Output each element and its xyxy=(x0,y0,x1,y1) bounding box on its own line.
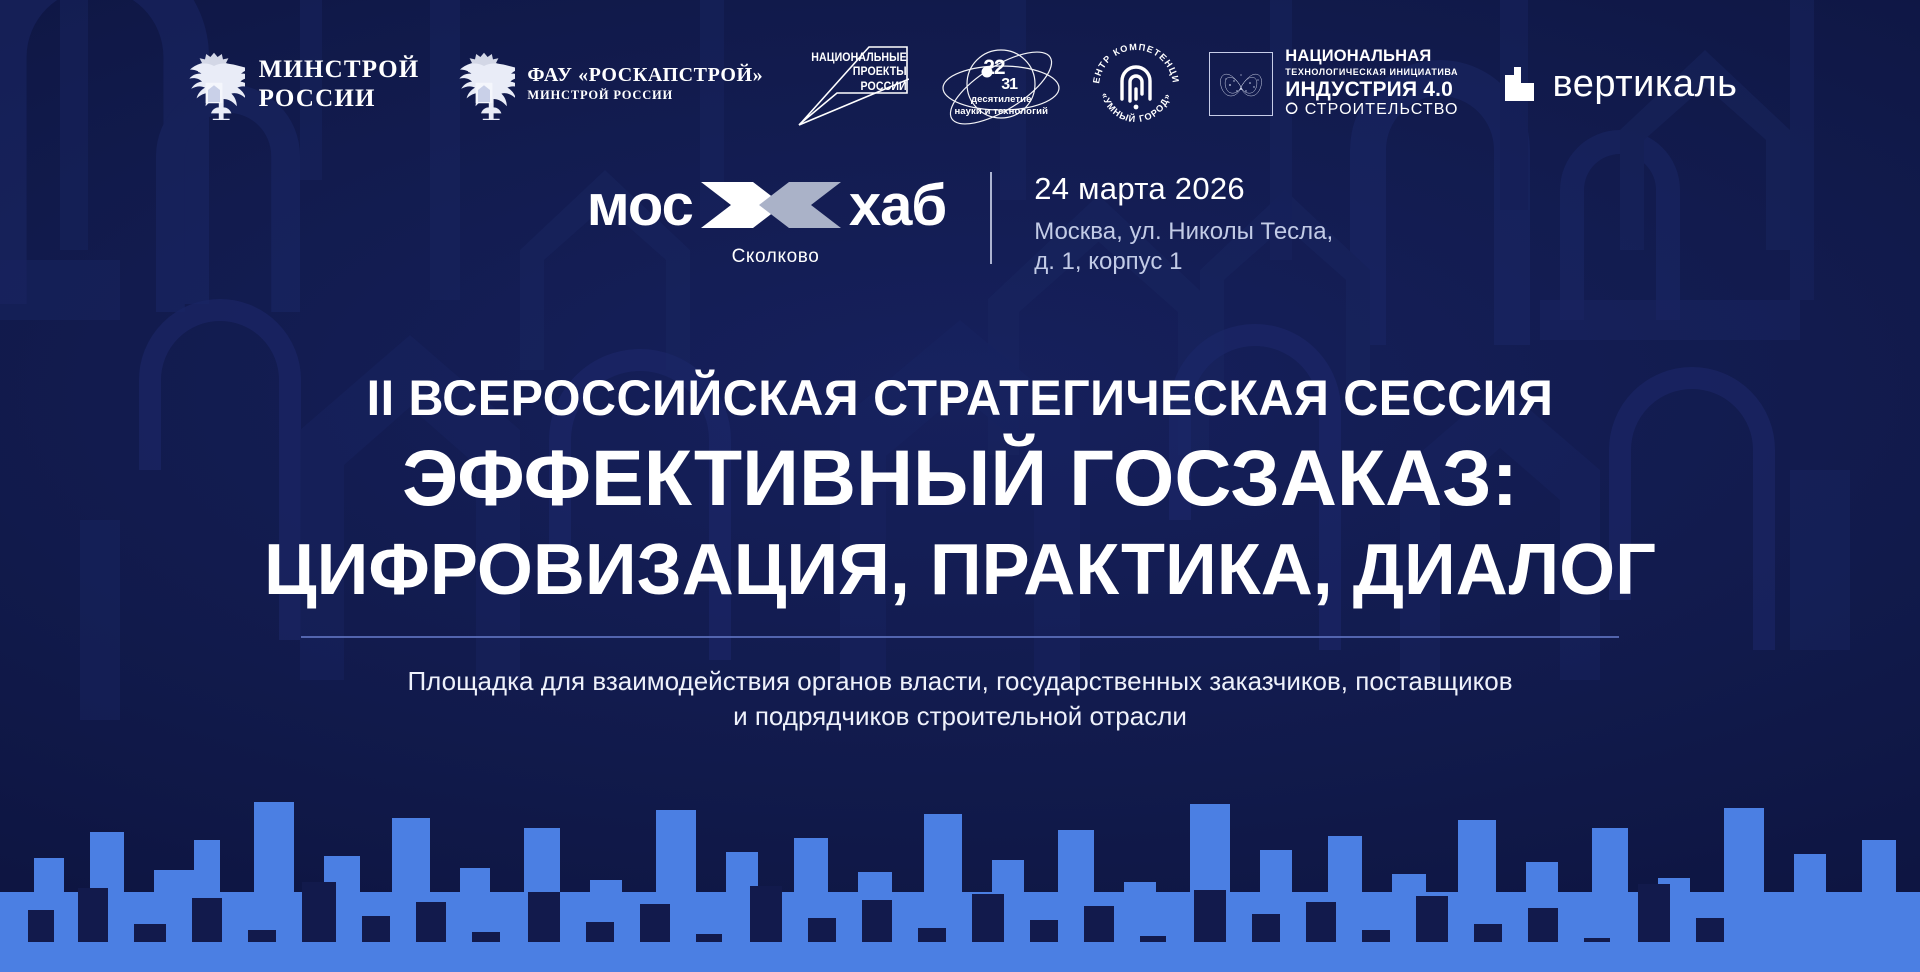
logo-minstroy-rossii: МИНСТРОЙ РОССИИ xyxy=(183,48,420,120)
moshub-bowtie-icon xyxy=(697,168,845,242)
decade-caption: десятилетие науки и технологий xyxy=(935,94,1067,118)
partner-logo-bar: МИНСТРОЙ РОССИИ ФАУ «РОСКАПСТРОЙ» МИНСТР xyxy=(0,30,1920,138)
np-line2: ПРОЕКТЫ xyxy=(812,65,907,79)
headline-kicker: II ВСЕРОССИЙСКАЯ СТРАТЕГИЧЕСКАЯ СЕССИЯ xyxy=(29,372,1891,425)
logo-roskapstroy-line1: ФАУ «РОСКАПСТРОЙ» xyxy=(527,64,763,87)
double-headed-eagle-icon xyxy=(453,48,515,120)
logo-national-projects-text: НАЦИОНАЛЬНЫЕ ПРОЕКТЫ РОССИИ xyxy=(812,51,907,94)
nti-arrow-icon: ⭘ xyxy=(1285,101,1299,118)
logo-minstroy-line2: РОССИИ xyxy=(259,84,420,113)
nti-line2: ТЕХНОЛОГИЧЕСКАЯ ИНИЦИАТИВА xyxy=(1285,66,1458,80)
venue-and-date-row: мос хаб Сколково 24 марта 2026 Москва, у… xyxy=(0,168,1920,278)
headline-main: ЭФФЕКТИВНЫЙ ГОСЗАКАЗ: xyxy=(0,435,1920,520)
event-poster: МИНСТРОЙ РОССИИ ФАУ «РОСКАПСТРОЙ» МИНСТР xyxy=(0,0,1920,972)
logo-vertikal-wordmark: вертикаль xyxy=(1553,63,1738,106)
nti-line4: ⭘ СТРОИТЕЛЬСТВО xyxy=(1285,101,1458,119)
event-address: Москва, ул. Николы Тесла, д. 1, корпус 1 xyxy=(1034,217,1333,278)
decade-line1: десятилетие xyxy=(935,94,1067,106)
np-line3: РОССИИ xyxy=(812,80,907,94)
double-headed-eagle-icon xyxy=(183,48,245,120)
headline-divider-rule xyxy=(301,636,1619,638)
decade-line2: науки и технологий xyxy=(935,106,1067,118)
nti-line1: НАЦИОНАЛЬНАЯ xyxy=(1285,48,1458,66)
vertical-divider xyxy=(990,172,992,264)
event-address-line2: д. 1, корпус 1 xyxy=(1034,247,1333,278)
nti-line4-text: СТРОИТЕЛЬСТВО xyxy=(1305,101,1459,118)
event-details: 24 марта 2026 Москва, ул. Николы Тесла, … xyxy=(1034,168,1333,278)
event-date: 24 марта 2026 xyxy=(1034,170,1333,209)
moshub-word-left: мос xyxy=(587,172,693,239)
butterfly-attractor-icon xyxy=(1209,52,1273,116)
logo-nti-industry40: НАЦИОНАЛЬНАЯ ТЕХНОЛОГИЧЕСКАЯ ИНИЦИАТИВА … xyxy=(1209,48,1458,120)
logo-minstroy-text: МИНСТРОЙ РОССИИ xyxy=(259,55,420,113)
logo-national-projects: НАЦИОНАЛЬНЫЕ ПРОЕКТЫ РОССИИ xyxy=(797,41,909,127)
logo-minstroy-line1: МИНСТРОЙ xyxy=(259,55,420,84)
skyline-graphic xyxy=(0,642,1920,972)
logo-roskapstroy: ФАУ «РОСКАПСТРОЙ» МИНСТРОЙ РОССИИ xyxy=(453,48,763,120)
event-address-line1: Москва, ул. Николы Тесла, xyxy=(1034,217,1333,248)
logo-roskapstroy-line2: МИНСТРОЙ РОССИИ xyxy=(527,87,763,104)
decade-numbers: 22 31 xyxy=(983,56,1017,94)
headline-sub: ЦИФРОВИЗАЦИЯ, ПРАКТИКА, ДИАЛОГ xyxy=(0,532,1920,610)
building-blocks-icon xyxy=(1499,67,1539,101)
logo-decade-of-science: 22 31 десятилетие науки и технологий xyxy=(935,38,1067,130)
logo-roskapstroy-text: ФАУ «РОСКАПСТРОЙ» МИНСТРОЙ РОССИИ xyxy=(527,64,763,104)
logo-vertikal: вертикаль xyxy=(1499,63,1738,106)
np-line1: НАЦИОНАЛЬНЫЕ xyxy=(812,51,907,65)
logo-smart-city: ЦЕНТР КОМПЕТЕНЦИЙ «УМНЫЙ ГОРОД» xyxy=(1089,37,1183,131)
moshub-caption: Сколково xyxy=(605,246,946,268)
decade-num-31: 31 xyxy=(1001,76,1017,94)
moshub-logo: мос хаб Сколково xyxy=(587,168,946,268)
moshub-word-right: хаб xyxy=(849,172,946,239)
logo-nti-text: НАЦИОНАЛЬНАЯ ТЕХНОЛОГИЧЕСКАЯ ИНИЦИАТИВА … xyxy=(1285,48,1458,120)
moshub-wordmark: мос хаб xyxy=(587,168,946,242)
nti-line3: ИНДУСТРИЯ 4.0 xyxy=(1285,79,1458,101)
